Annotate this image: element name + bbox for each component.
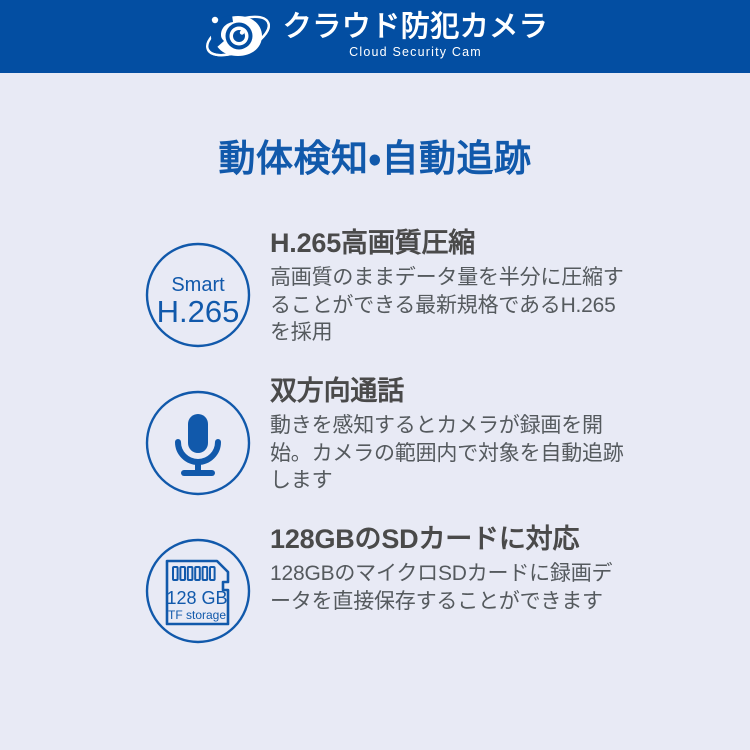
badge-line-2: H.265 [157,294,240,329]
feature-heading: H.265高画質圧縮 [270,228,632,258]
sd-card-icon: 128 GB TF storage [145,538,251,644]
brand-subtitle: Cloud Security Cam [349,46,482,59]
feature-list: Smart H.265 H.265高画質圧縮 高画質のままデータ量を半分に圧縮す… [0,228,750,615]
feature-item: Smart H.265 H.265高画質圧縮 高画質のままデータ量を半分に圧縮す… [0,228,750,346]
feature-description: 高画質のままデータ量を半分に圧縮することができる最新規格であるH.265を採用 [270,264,632,346]
brand-text-block: クラウド防犯カメラ Cloud Security Cam [283,12,549,59]
feature-description: 動きを感知するとカメラが録画を開始。カメラの範囲内で対象を自動追跡します [270,412,632,494]
feature-text-block: H.265高画質圧縮 高画質のままデータ量を半分に圧縮することができる最新規格で… [270,228,632,346]
brand-title: クラウド防犯カメラ [283,12,549,42]
feature-item: 128 GB TF storage 128GBのSDカードに対応 128GBのマ… [0,524,750,615]
sd-capacity-label: 128 GB [166,588,227,608]
feature-heading: 128GBのSDカードに対応 [270,524,632,554]
page-title: 動体検知・自動追跡 [0,128,750,182]
feature-heading: 双方向通話 [270,376,632,406]
sd-type-label: TF storage [168,608,226,622]
feature-item: 双方向通話 動きを感知するとカメラが録画を開始。カメラの範囲内で対象を自動追跡し… [0,376,750,494]
promo-page: クラウド防犯カメラ Cloud Security Cam 動体検知・自動追跡 S… [0,0,750,750]
header-bar: クラウド防犯カメラ Cloud Security Cam [0,0,750,73]
smart-h265-badge-icon: Smart H.265 [145,242,251,348]
badge-line-1: Smart [171,274,225,296]
microphone-icon [145,390,251,496]
feature-text-block: 双方向通話 動きを感知するとカメラが録画を開始。カメラの範囲内で対象を自動追跡し… [270,376,632,494]
camera-eye-orbit-icon [202,11,274,61]
feature-description: 128GBのマイクロSDカードに録画データを直接保存することができます [270,560,632,615]
feature-text-block: 128GBのSDカードに対応 128GBのマイクロSDカードに録画データを直接保… [270,524,632,615]
brand-lockup: クラウド防犯カメラ Cloud Security Cam [202,11,549,61]
